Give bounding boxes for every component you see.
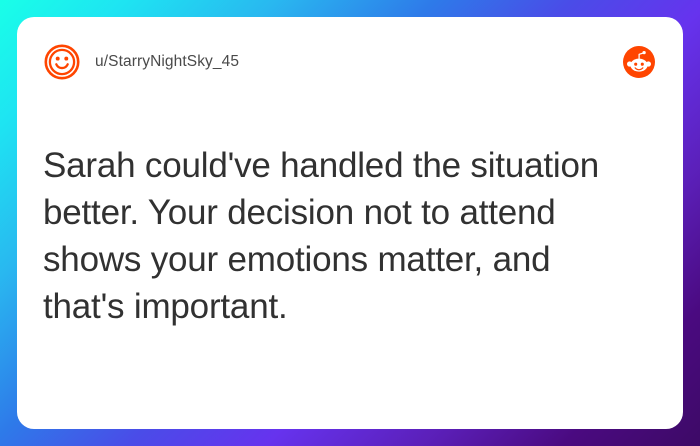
reddit-snoo-icon [623,46,655,78]
smiley-face-icon [43,43,81,81]
reddit-post-card: u/StarryNightSky_45 [17,17,683,429]
post-body: Sarah could've handled the situation bet… [43,143,657,331]
username-label: u/StarryNightSky_45 [95,53,239,71]
background-gradient: u/StarryNightSky_45 [0,0,700,446]
post-text: Sarah could've handled the situation bet… [43,143,637,331]
post-header: u/StarryNightSky_45 [43,39,657,85]
avatar[interactable] [43,43,81,81]
